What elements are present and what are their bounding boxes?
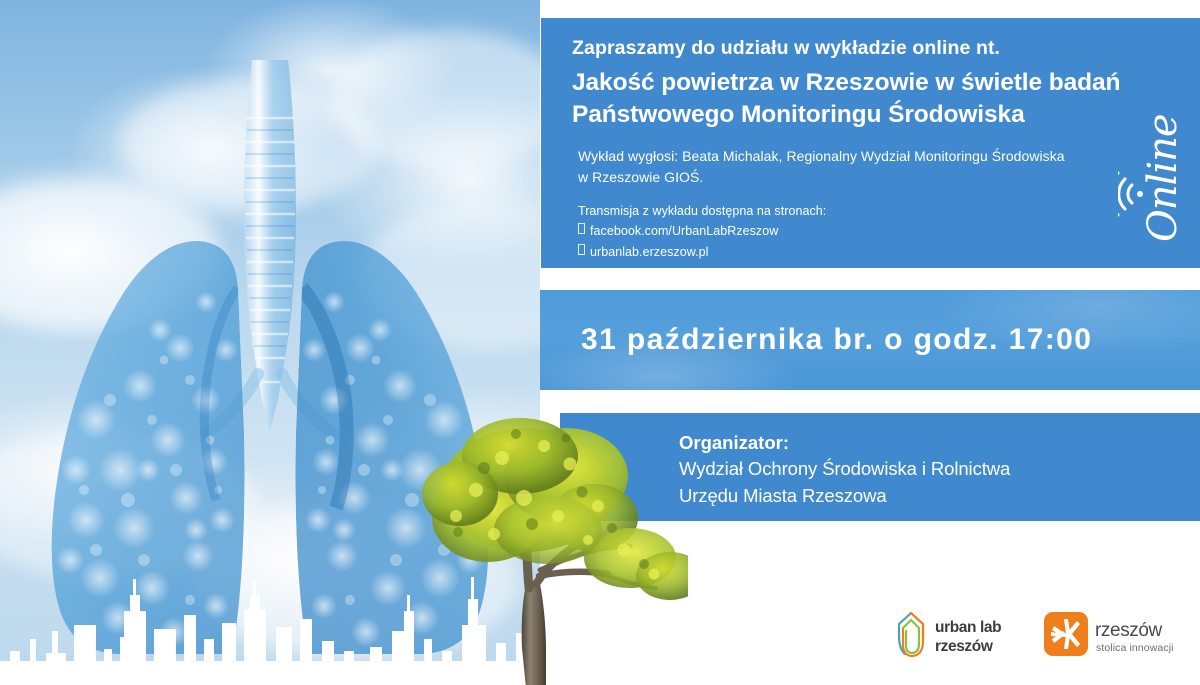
headline-intro: Zapraszamy do udziału w wykładzie online… — [572, 35, 1132, 61]
rzeszow-tagline: stolica innowacji — [1096, 642, 1174, 654]
broadcast-link-website[interactable]: urbanlab.erzeszow.pl — [578, 242, 1048, 262]
speaker-line-2: w Rzeszowie GIOŚ. — [578, 167, 1108, 188]
broadcast-block: Transmisja z wykładu dostępna na stronac… — [578, 201, 1048, 262]
organizer-line-1: Wydział Ochrony Środowiska i Rolnictwa — [679, 456, 1149, 482]
rzeszow-name: rzeszów — [1095, 620, 1163, 641]
urban-lab-name-line-2: rzeszów — [935, 638, 994, 655]
urban-lab-mark — [899, 613, 923, 656]
poster-root: Zapraszamy do udziału w wykładzie online… — [0, 0, 1200, 685]
broadcast-link-facebook[interactable]: facebook.com/UrbanLabRzeszow — [578, 221, 1048, 241]
headline-title-line-2: Państwowego Monitoringu Środowiska — [572, 99, 1132, 131]
headline-title-line-1: Jakość powietrza w Rzeszowie w świetle b… — [572, 67, 1132, 99]
tree-illustration — [398, 398, 688, 685]
broadcast-link-website-label: urbanlab.erzeszow.pl — [590, 242, 708, 262]
speaker-line-1: Wykład wygłosi: Beata Michalak, Regional… — [578, 146, 1108, 167]
event-date-text: 31 października br. o godz. 17:00 — [581, 290, 1181, 390]
logo-row: urban lab rzeszów rzeszów stolica innowa… — [895, 606, 1185, 666]
broadcast-heading: Transmisja z wykładu dostępna na stronac… — [578, 201, 1048, 221]
headline-block: Zapraszamy do udziału w wykładzie online… — [572, 35, 1132, 131]
globe-icon — [578, 244, 585, 255]
online-script-label: Online — [1140, 114, 1186, 242]
svg-text:Online: Online — [1140, 114, 1186, 242]
online-badge: Online — [1118, 82, 1198, 262]
rzeszow-logo[interactable]: rzeszów stolica innowacji — [1043, 610, 1185, 660]
organizer-line-2: Urzędu Miasta Rzeszowa — [679, 483, 1149, 509]
facebook-icon — [578, 223, 585, 234]
organizer-block: Organizator: Wydział Ochrony Środowiska … — [679, 430, 1149, 509]
urban-lab-logo[interactable]: urban lab rzeszów — [895, 608, 1015, 662]
organizer-heading: Organizator: — [679, 430, 1149, 456]
urban-lab-name-line-1: urban lab — [935, 619, 1001, 636]
speaker-block: Wykład wygłosi: Beata Michalak, Regional… — [578, 146, 1108, 189]
broadcast-link-facebook-label: facebook.com/UrbanLabRzeszow — [590, 221, 778, 241]
